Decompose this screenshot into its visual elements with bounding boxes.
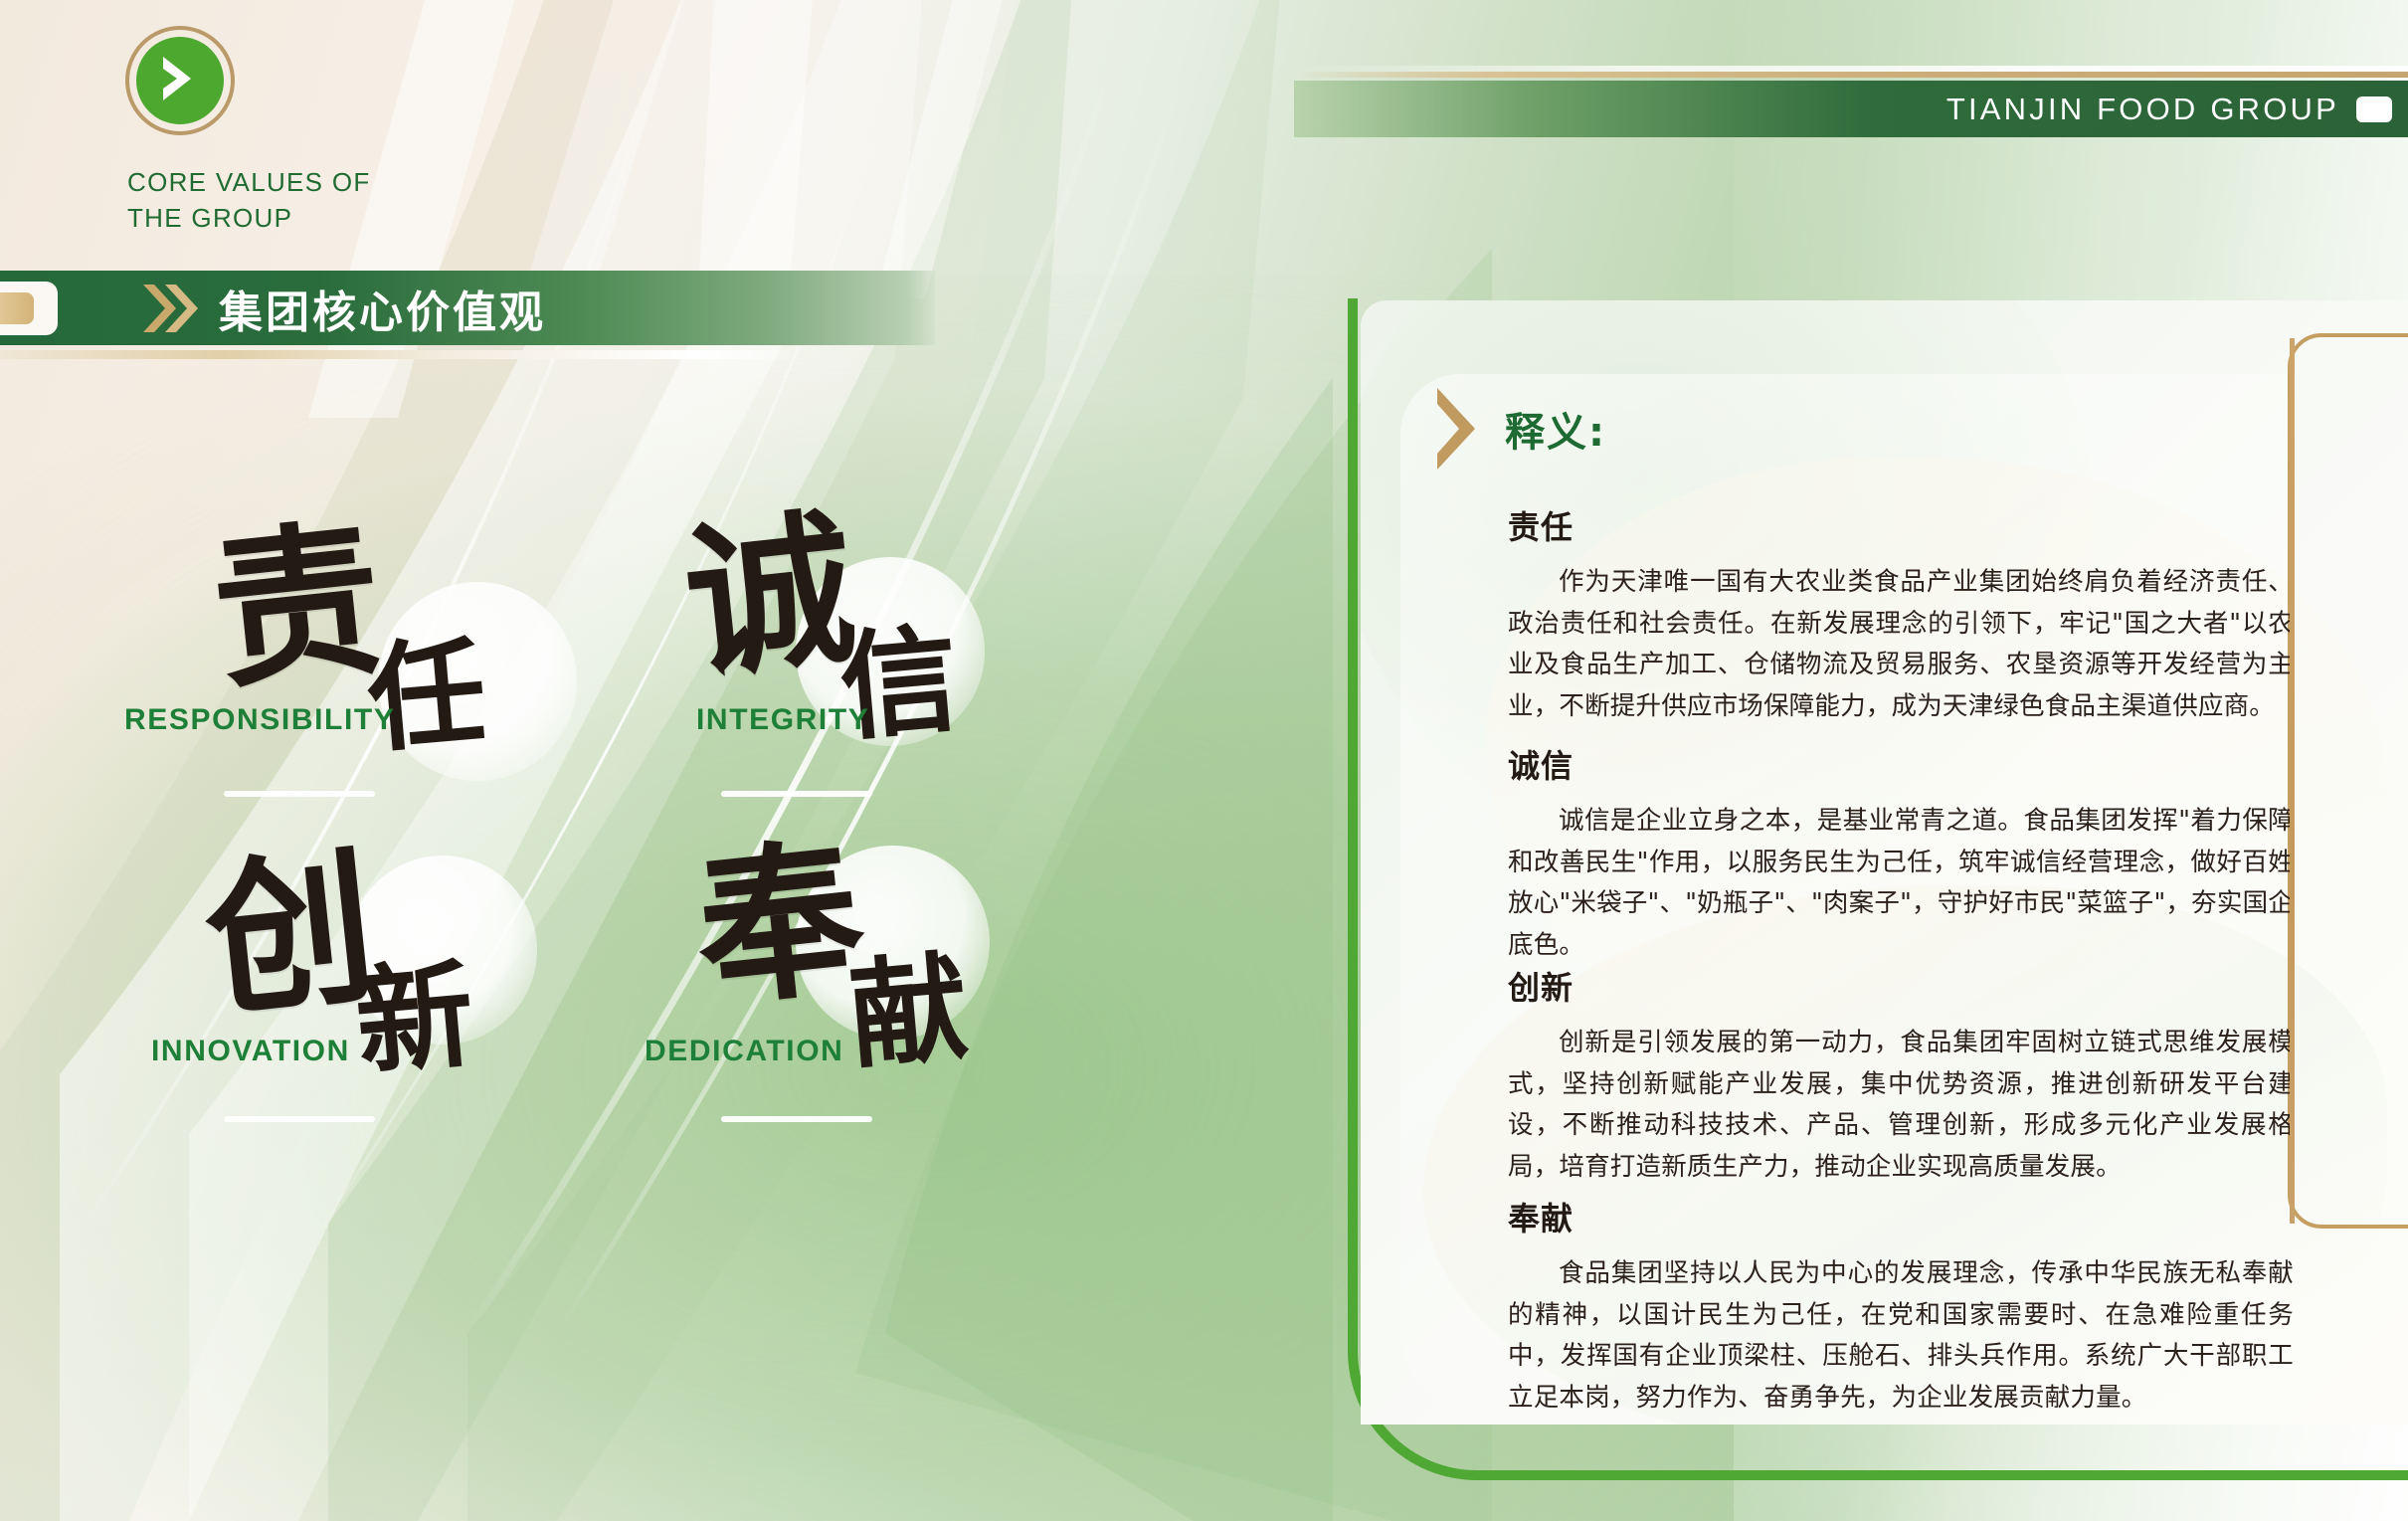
core-values-caption: CORE VALUES OF THE GROUP (127, 165, 456, 237)
section-body: 食品集团坚持以人民为中心的发展理念，传承中华民族无私奉献的精神，以国计民生为己任… (1508, 1253, 2294, 1419)
value-label-en: INTEGRITY (696, 703, 869, 737)
value-label-en: RESPONSIBILITY (124, 703, 395, 737)
explanation-section-3: 奉献 食品集团坚持以人民为中心的发展理念，传承中华民族无私奉献的精神，以国计民生… (1508, 1194, 2294, 1419)
poster-canvas: TIANJIN FOOD GROUP CORE VALUES OF THE GR… (0, 0, 2408, 1521)
brand-gold-rule (1294, 72, 2408, 78)
value-rule (224, 791, 375, 797)
value-rule (721, 1116, 872, 1122)
explanation-section-0: 责任 作为天津唯一国有大农业类食品产业集团始终肩负着经济责任、政治责任和社会责任… (1508, 502, 2294, 727)
gold-frame-decoration (2288, 333, 2408, 1229)
chevron-right-icon (1433, 386, 1479, 472)
section-title: 责任 (1508, 502, 2294, 548)
section-title: 奉献 (1508, 1194, 2294, 1239)
core-values-line2: THE GROUP (127, 201, 456, 237)
value-rule (721, 791, 872, 797)
section-body: 创新是引领发展的第一动力，食品集团牢固树立链式思维发展模式，坚持创新赋能产业发展… (1508, 1023, 2294, 1188)
title-tab-inner (0, 292, 34, 324)
title-underline (0, 350, 806, 359)
explanation-section-1: 诚信 诚信是企业立身之本，是基业常青之道。食品集团发挥"着力保障和改善民生"作用… (1508, 741, 2294, 966)
core-values-line1: CORE VALUES OF (127, 165, 456, 201)
panel-heading-text: 释义: (1505, 400, 1606, 458)
section-title: 诚信 (1508, 741, 2294, 787)
value-label-en: DEDICATION (645, 1035, 843, 1068)
value-glyph-big: 奉 (688, 833, 872, 1017)
brand-name: TIANJIN FOOD GROUP (1946, 92, 2339, 127)
section-title: 创新 (1508, 963, 2294, 1009)
section-body: 作为天津唯一国有大农业类食品产业集团始终肩负着经济责任、政治责任和社会责任。在新… (1508, 562, 2294, 727)
gold-vertical-rule (2290, 338, 2295, 1224)
value-rule (224, 1116, 375, 1122)
value-glyph-small: 新 (351, 955, 478, 1082)
explanation-section-2: 创新 创新是引领发展的第一动力，食品集团牢固树立链式思维发展模式，坚持创新赋能产… (1508, 963, 2294, 1188)
panel-heading: 释义: (1433, 386, 1606, 472)
brand-endcap (2356, 96, 2392, 122)
section-title-bar: 集团核心价值观 (0, 271, 935, 345)
value-glyph-small: 任 (363, 632, 490, 759)
double-chevron-right-icon (139, 283, 201, 334)
value-glyph-big: 诚 (678, 504, 862, 688)
value-glyph-big: 责 (206, 514, 390, 698)
chevron-right-circle-icon (136, 37, 224, 124)
brand-banner: TIANJIN FOOD GROUP (1294, 81, 2408, 137)
page-title: 集团核心价值观 (219, 277, 546, 340)
group-logo (125, 26, 235, 135)
value-glyph-small: 献 (845, 948, 973, 1075)
value-label-en: INNOVATION (151, 1035, 350, 1068)
section-body: 诚信是企业立身之本，是基业常青之道。食品集团发挥"着力保障和改善民生"作用，以服… (1508, 801, 2294, 966)
